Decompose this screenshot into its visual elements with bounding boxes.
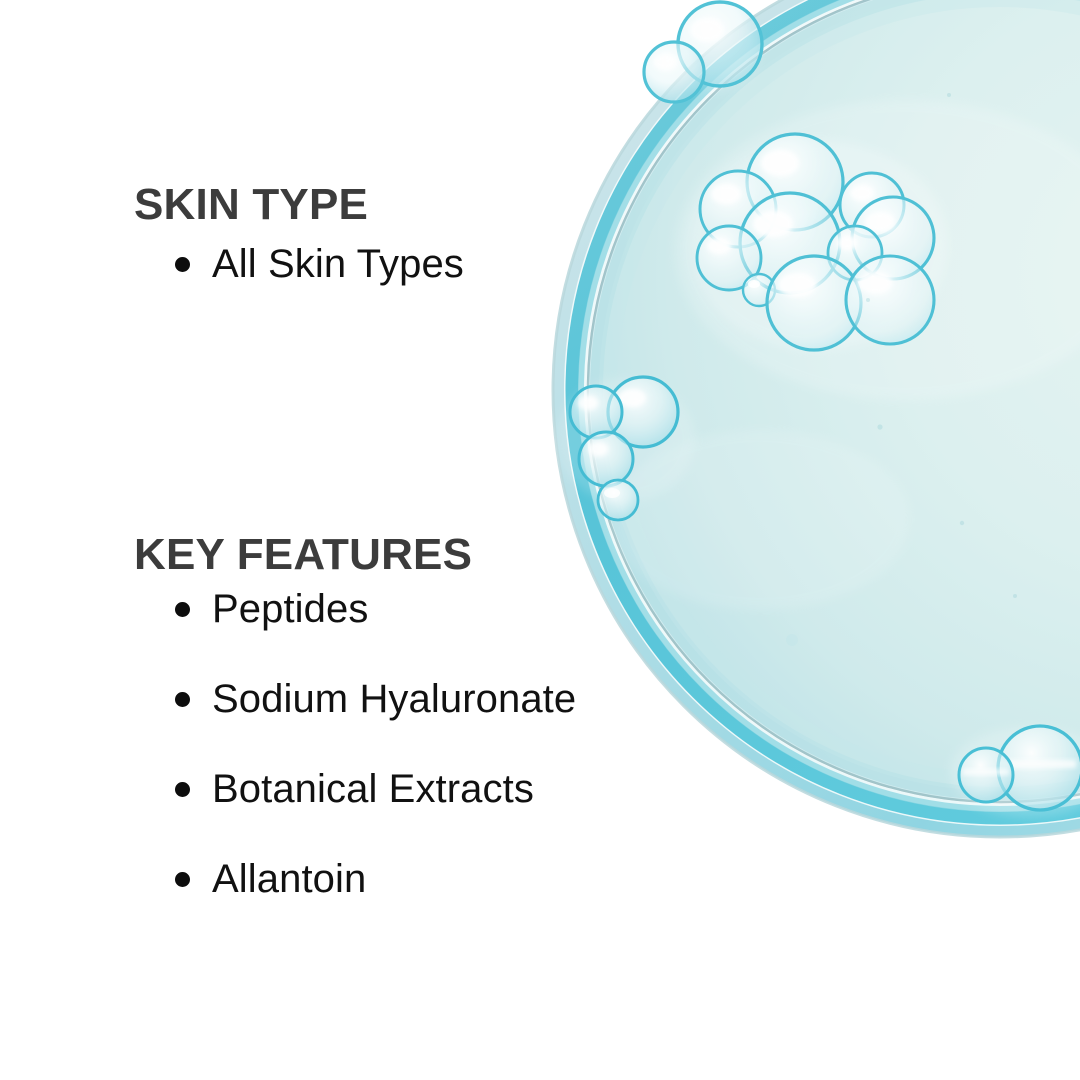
bullet-dot-icon	[175, 602, 190, 617]
list-item: Sodium Hyaluronate	[0, 675, 576, 765]
bullet-dot-icon	[175, 257, 190, 272]
list-item-label: Botanical Extracts	[212, 767, 534, 811]
feature-text-column: SKIN TYPE All Skin Types KEY FEATURES Pe…	[0, 0, 560, 1080]
list-item-label: Sodium Hyaluronate	[212, 677, 576, 721]
list-item-label: Peptides	[212, 587, 368, 631]
bullet-dot-icon	[175, 692, 190, 707]
bullet-dot-icon	[175, 872, 190, 887]
list-item: Peptides	[0, 585, 576, 675]
list-item-label: All Skin Types	[212, 242, 464, 286]
skin-type-list: All Skin Types	[0, 240, 464, 292]
bubble-cluster-left-rim	[555, 377, 695, 520]
bubble-cluster-top-rim	[644, 2, 762, 102]
product-feature-card: SKIN TYPE All Skin Types KEY FEATURES Pe…	[0, 0, 1080, 1080]
section-heading-skin-type: SKIN TYPE	[134, 183, 368, 227]
bullet-dot-icon	[175, 782, 190, 797]
section-heading-key-features: KEY FEATURES	[134, 533, 472, 577]
list-item: Botanical Extracts	[0, 765, 576, 855]
list-item: Allantoin	[0, 855, 576, 945]
gel-specks	[786, 93, 1017, 646]
list-item: All Skin Types	[0, 240, 464, 292]
bubble-cluster-bottom-rim	[950, 726, 1080, 817]
bubble-cluster-center	[688, 134, 948, 350]
list-item-label: Allantoin	[212, 857, 366, 901]
key-features-list: Peptides Sodium Hyaluronate Botanical Ex…	[0, 585, 576, 945]
